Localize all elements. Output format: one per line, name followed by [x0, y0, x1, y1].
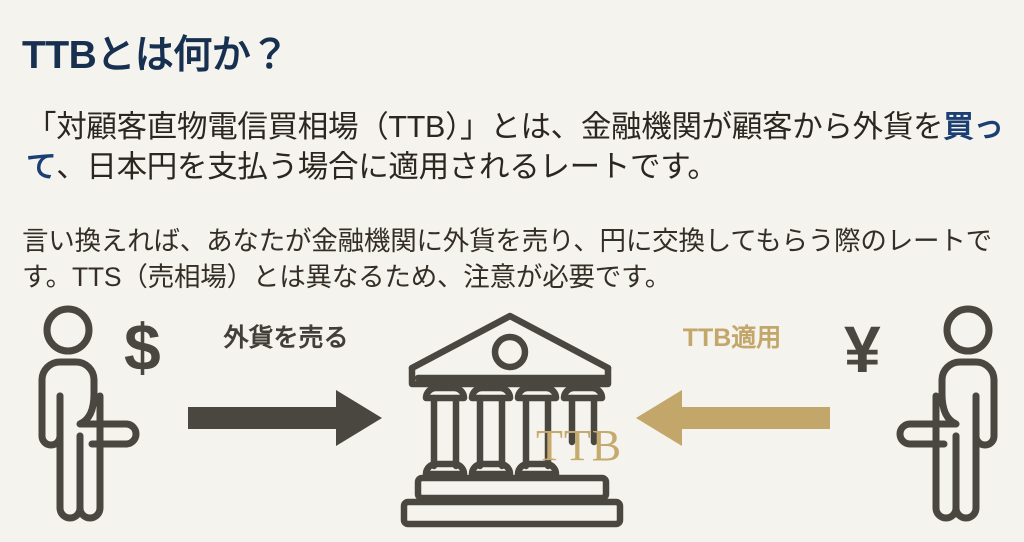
- lead-text-after: 、日本円を支払う場合に適用されるレートです。: [56, 150, 717, 184]
- bank-caption-ttb: TTB: [536, 424, 622, 468]
- yen-sign-icon: ¥: [844, 316, 881, 382]
- bank-building-icon: [396, 302, 628, 532]
- page-title: TTBとは何か？: [22, 36, 289, 77]
- lead-text-before: 「対顧客直物電信買相場（TTB）」とは、金融機関が顧客から外貨を: [26, 110, 943, 144]
- sub-paragraph: 言い換えれば、あなたが金融機関に外貨を売り、円に交換してもらう際のレートです。T…: [22, 223, 1012, 295]
- left-customer-group: $: [28, 304, 188, 530]
- bank-group: TTB: [396, 302, 628, 532]
- lead-paragraph: 「対顧客直物電信買相場（TTB）」とは、金融機関が顧客から外貨を買って、日本円を…: [26, 107, 1006, 188]
- arrow-inbound-group: TTB適用: [632, 326, 832, 446]
- slide-canvas: TTBとは何か？ 「対顧客直物電信買相場（TTB）」とは、金融機関が顧客から外貨…: [0, 0, 1024, 542]
- arrow-outbound-label: 外貨を売る: [186, 326, 386, 351]
- arrow-inbound-label: TTB適用: [632, 326, 832, 351]
- right-customer-group: ¥: [838, 304, 1008, 530]
- arrow-right-icon: [186, 388, 386, 448]
- person-icon: [28, 304, 188, 530]
- arrow-left-icon: [632, 388, 832, 448]
- dollar-sign-icon: $: [124, 314, 161, 380]
- exchange-flow-diagram: $ 外貨を売る: [0, 296, 1024, 542]
- arrow-outbound-group: 外貨を売る: [186, 326, 386, 446]
